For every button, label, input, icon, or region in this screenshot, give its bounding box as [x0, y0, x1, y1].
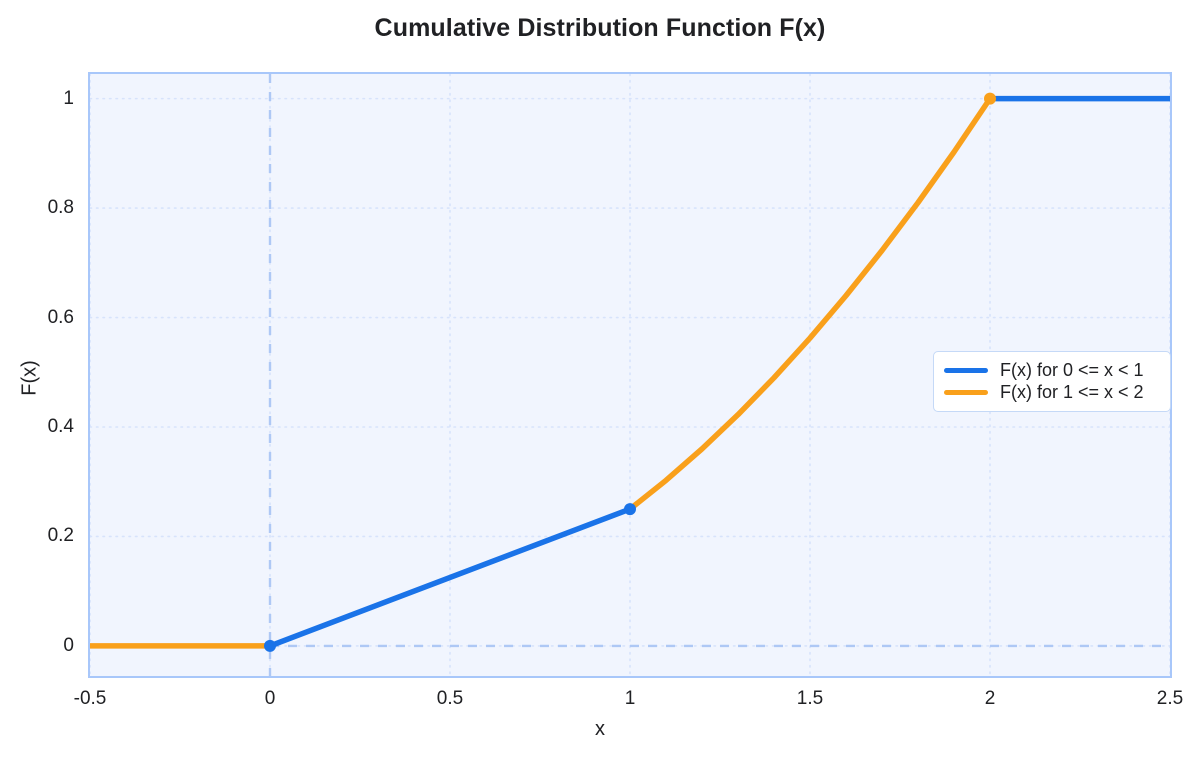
y-tick-label: 1 [63, 88, 74, 110]
x-tick-label: 2 [985, 688, 996, 710]
x-axis-label: x [0, 718, 1200, 741]
page-title: Cumulative Distribution Function F(x) [0, 14, 1200, 43]
legend-item[interactable]: F(x) for 1 <= x < 2 [944, 381, 1160, 403]
legend-color-swatch [944, 390, 988, 395]
legend-color-swatch [944, 368, 988, 373]
y-tick-label: 0.6 [48, 307, 74, 329]
x-tick-label: 2.5 [1157, 688, 1183, 710]
legend-item[interactable]: F(x) for 0 <= x < 1 [944, 359, 1160, 381]
legend-label: F(x) for 1 <= x < 2 [1000, 382, 1144, 403]
y-tick-label: 0 [63, 635, 74, 657]
chart-legend: F(x) for 0 <= x < 1F(x) for 1 <= x < 2 [933, 351, 1171, 412]
x-tick-label: 1.5 [797, 688, 823, 710]
x-tick-label: 0 [265, 688, 276, 710]
x-tick-label: 0.5 [437, 688, 463, 710]
legend-label: F(x) for 0 <= x < 1 [1000, 360, 1144, 381]
y-tick-label: 0.2 [48, 525, 74, 547]
chart-figure: Cumulative Distribution Function F(x) -0… [0, 0, 1200, 761]
y-tick-label: 0.8 [48, 197, 74, 219]
y-tick-label: 0.4 [48, 416, 74, 438]
x-tick-label: 1 [625, 688, 636, 710]
x-tick-label: -0.5 [74, 688, 107, 710]
y-axis-label: F(x) [18, 360, 41, 396]
